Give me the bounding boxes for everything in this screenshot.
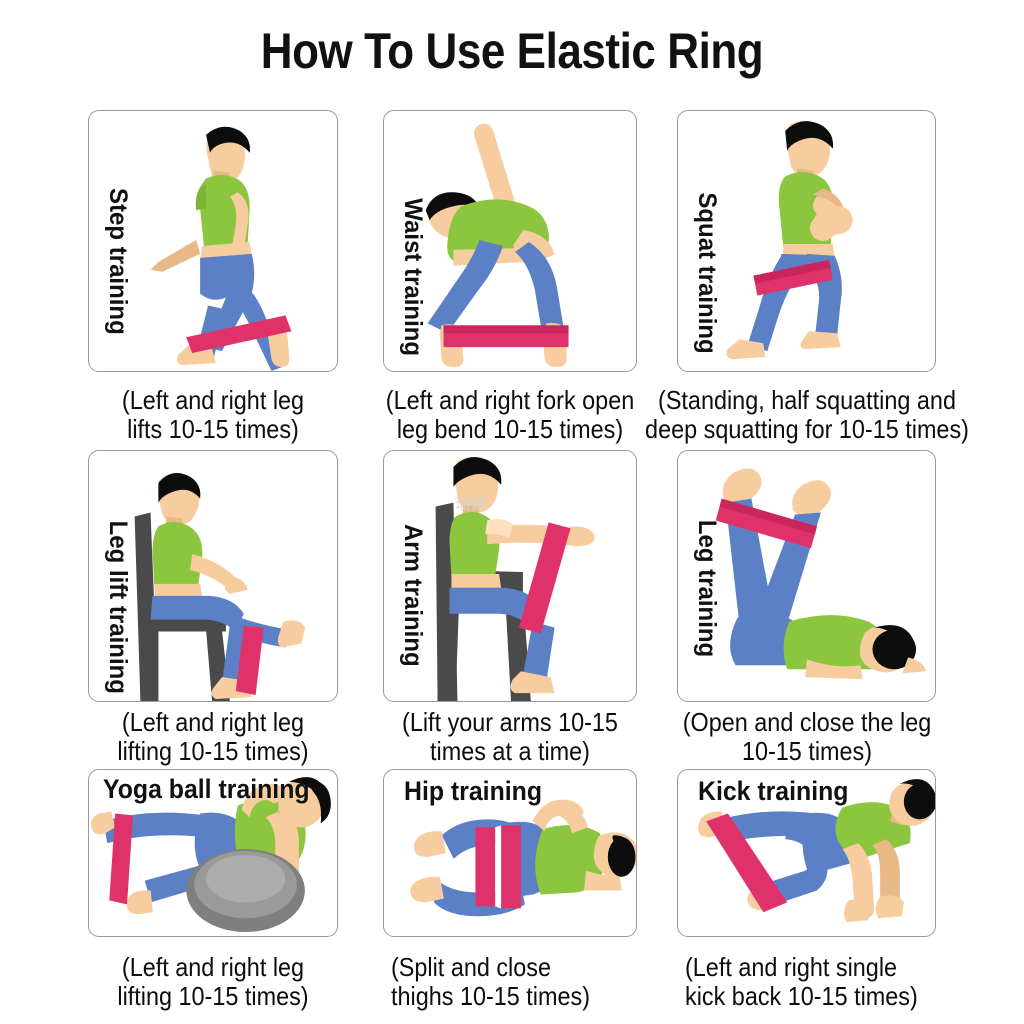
panel-leg-training: Leg training (Open and close the leg 10-… <box>677 450 936 702</box>
panel-label: Kick training <box>698 776 848 807</box>
panel-caption: (Left and right leg lifting 10-15 times) <box>92 708 335 767</box>
panel-card: Leg training <box>677 450 936 702</box>
panel-caption: (Left and right fork open leg bend 10-15… <box>380 386 641 445</box>
panel-caption: (Left and right leg lifts 10-15 times) <box>96 386 330 445</box>
panel-arm-training: 瑜伽 Arm training (Lift your arms 10-15 ti… <box>383 450 637 702</box>
panel-card: Kick training <box>677 769 936 937</box>
panel-label: Arm training <box>398 524 427 667</box>
panel-label: Step training <box>103 188 132 335</box>
panel-card: Squat training <box>677 110 936 372</box>
panel-hip-training: Hip training (Split and close thighs 10-… <box>383 769 637 937</box>
panel-caption: (Standing, half squatting and deep squat… <box>636 386 978 445</box>
panel-yoga-ball-training: Yoga ball training (Left and right leg l… <box>88 769 338 937</box>
panel-waist-training: Waist training (Left and right fork open… <box>383 110 637 372</box>
panel-card: Waist training <box>383 110 637 372</box>
page-title: How To Use Elastic Ring <box>61 22 962 80</box>
panel-card: Leg lift training <box>88 450 338 702</box>
panel-caption: (Left and right leg lifting 10-15 times) <box>92 953 335 1012</box>
panel-leg-lift-training: Leg lift training (Left and right leg li… <box>88 450 338 702</box>
panel-card: 瑜伽 Arm training <box>383 450 637 702</box>
panel-label: Hip training <box>404 776 542 807</box>
panel-caption: (Left and right single kick back 10-15 t… <box>685 953 973 1012</box>
panel-caption: (Open and close the leg 10-15 times) <box>663 708 951 767</box>
panel-card: Step training <box>88 110 338 372</box>
panel-label: Waist training <box>398 198 427 356</box>
panel-caption: (Lift your arms 10-15 times at a time) <box>380 708 641 767</box>
panel-card: Yoga ball training <box>88 769 338 937</box>
panel-card: Hip training <box>383 769 637 937</box>
panel-caption: (Split and close thighs 10-15 times) <box>391 953 661 1012</box>
infographic-poster: How To Use Elastic Ring <box>0 0 1024 1024</box>
svg-text:瑜伽: 瑜伽 <box>455 495 485 513</box>
panel-squat-training: Squat training (Standing, half squatting… <box>677 110 936 372</box>
panel-label: Squat training <box>692 192 721 353</box>
panel-label: Yoga ball training <box>103 774 310 805</box>
panel-kick-training: Kick training (Left and right single kic… <box>677 769 936 937</box>
panel-label: Leg lift training <box>103 521 132 694</box>
panel-label: Leg training <box>692 520 721 657</box>
panel-step-training: Step training (Left and right leg lifts … <box>88 110 338 372</box>
